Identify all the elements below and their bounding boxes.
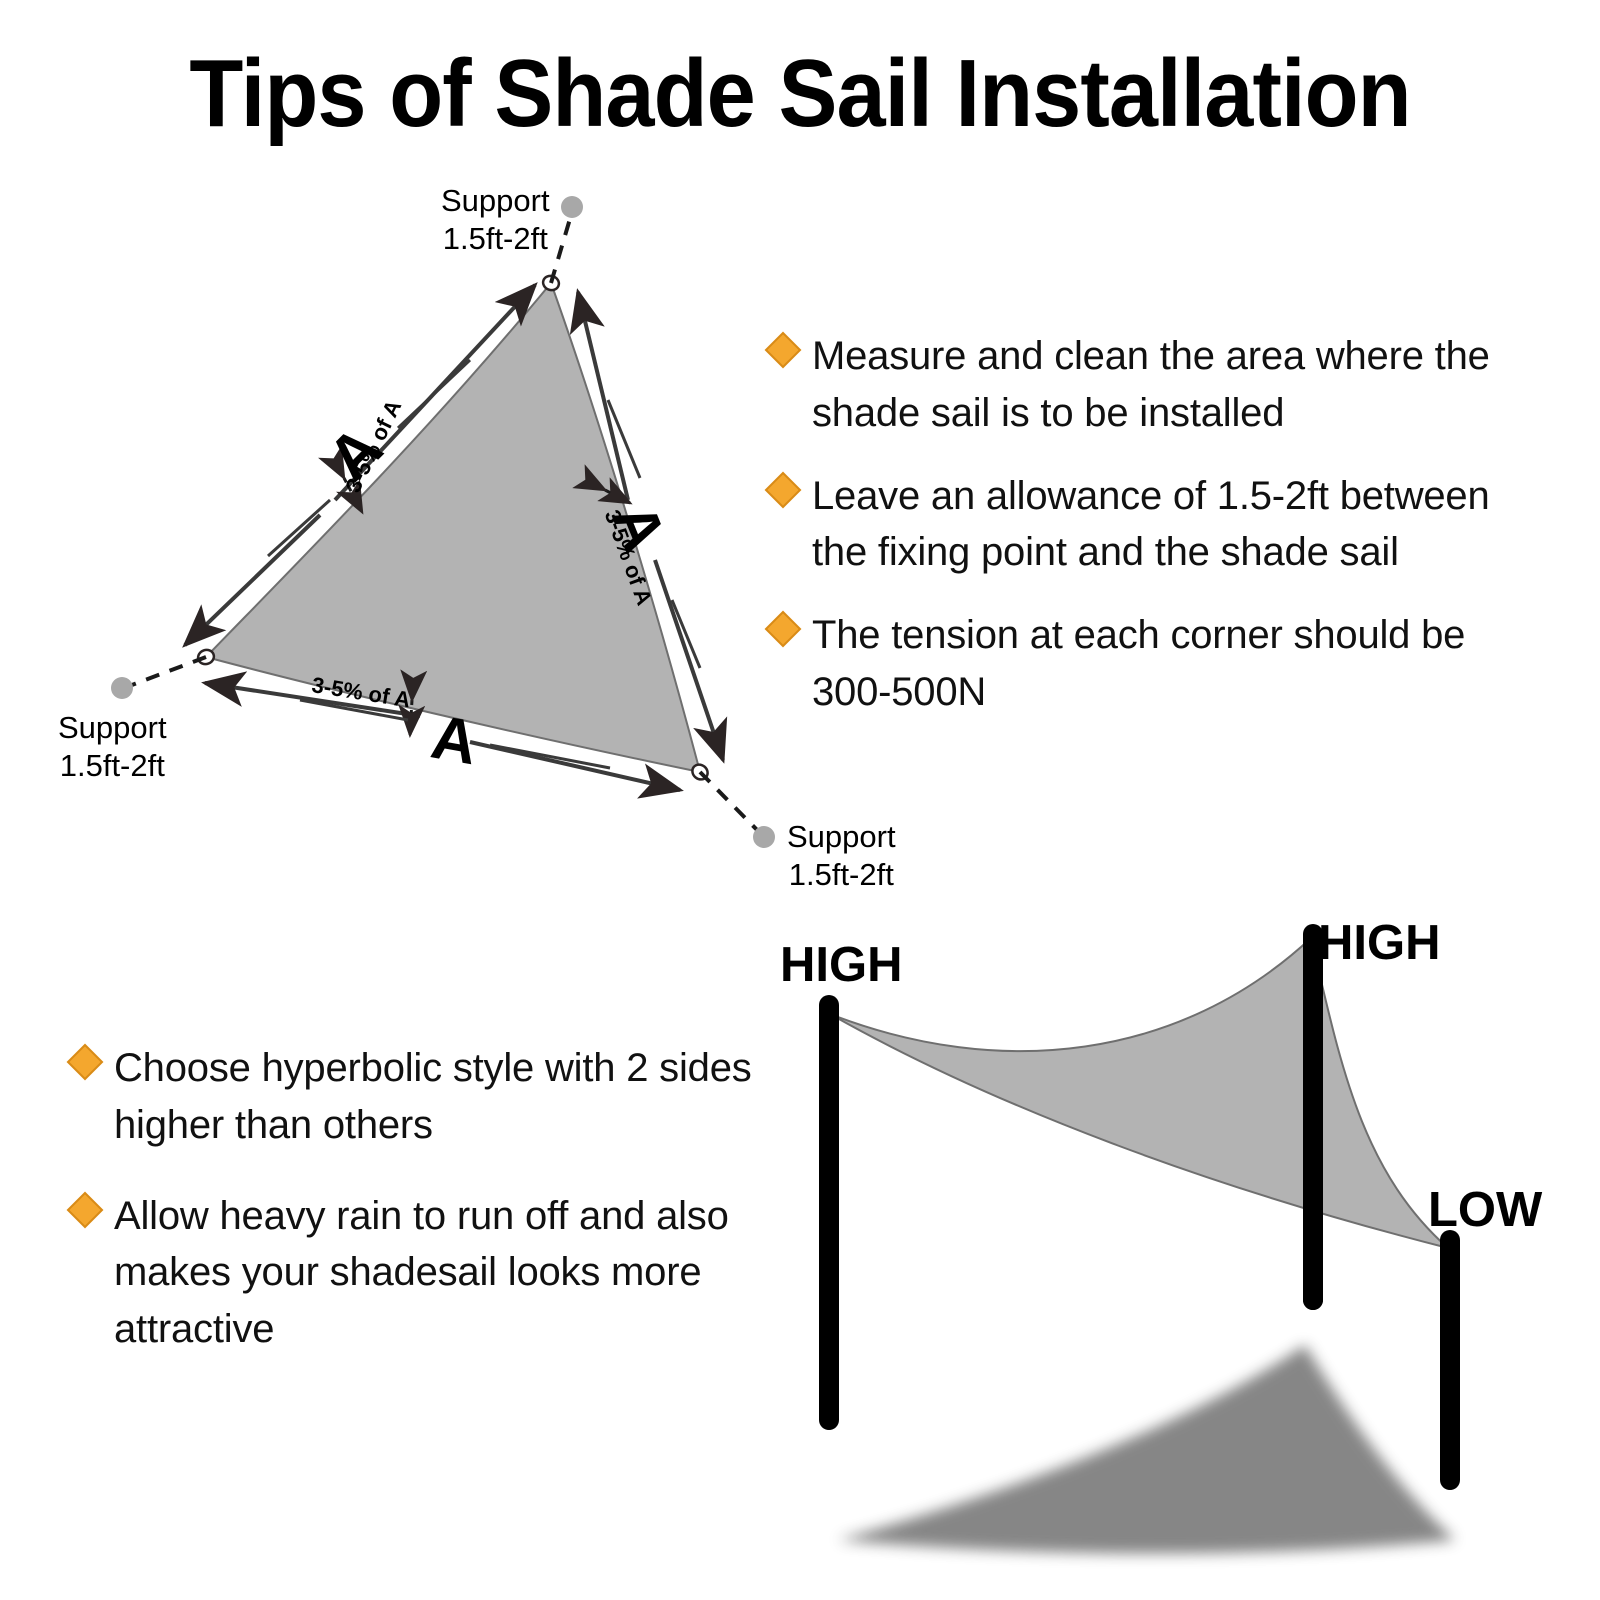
diamond-bullet-icon (67, 1191, 104, 1228)
support-dot-left (111, 677, 133, 699)
tip-text: The tension at each corner should be 300… (812, 607, 1530, 721)
fixing-ring-top (541, 274, 561, 293)
allowance-dash-bottom (700, 772, 762, 835)
post-label-left-high: HIGH (780, 937, 903, 993)
fixing-ring-bottom-right (689, 761, 710, 782)
dim-tick-right (605, 490, 630, 503)
support-label-left: Support 1.5ft-2ft (58, 709, 167, 785)
edge-label-bottom-a: A (426, 702, 482, 780)
allowance-dash-left (124, 657, 206, 688)
diamond-bullet-icon (765, 471, 802, 508)
support-dot-top (561, 196, 583, 218)
dim-tick-bottom (410, 700, 412, 735)
fixing-ring-left (196, 648, 216, 667)
diamond-bullet-icon (765, 332, 802, 369)
dim-arrow-left-down (185, 515, 320, 645)
tip-text: Choose hyperbolic style with 2 sides hig… (114, 1040, 772, 1154)
diamond-bullet-icon (67, 1044, 104, 1081)
dim-arrow-right-down (655, 560, 723, 760)
dim-arrow-right-up (578, 292, 628, 500)
post-label-center-high: HIGH (1318, 915, 1441, 971)
tip-text: Allow heavy rain to run off and also mak… (114, 1188, 772, 1358)
page-title: Tips of Shade Sail Installation (64, 44, 1536, 145)
ground-shadow (838, 1345, 1455, 1554)
tips-list-left: Choose hyperbolic style with 2 sides hig… (72, 1040, 772, 1392)
diamond-bullet-icon (765, 611, 802, 648)
post-label-right-low: LOW (1428, 1182, 1542, 1238)
support-label-top: Support 1.5ft-2ft (441, 182, 550, 258)
list-item: Measure and clean the area where the sha… (770, 328, 1530, 442)
hyperbolic-sail-shape (830, 938, 1448, 1248)
list-item: Choose hyperbolic style with 2 sides hig… (72, 1040, 772, 1154)
leader-left-a (398, 360, 470, 428)
leader-right-a2 (672, 600, 700, 668)
support-dot-bottom (753, 826, 775, 848)
tip-text: Measure and clean the area where the sha… (812, 328, 1530, 442)
list-item: Allow heavy rain to run off and also mak… (72, 1188, 772, 1358)
tip-text: Leave an allowance of 1.5-2ft between th… (812, 468, 1530, 582)
list-item: The tension at each corner should be 300… (770, 607, 1530, 721)
leader-bottom-a2 (490, 745, 610, 768)
leader-left-a2 (268, 500, 330, 556)
list-item: Leave an allowance of 1.5-2ft between th… (770, 468, 1530, 582)
allowance-dash-top (551, 212, 572, 283)
tips-list-right: Measure and clean the area where the sha… (770, 328, 1530, 747)
curve-label-bottom: 3-5% of A (310, 672, 412, 713)
infographic-page: Tips of Shade Sail Installation (0, 0, 1600, 1600)
dim-arrow-bottom-right (470, 742, 680, 790)
support-label-bottom: Support 1.5ft-2ft (787, 818, 896, 894)
leader-right-a (608, 400, 640, 478)
